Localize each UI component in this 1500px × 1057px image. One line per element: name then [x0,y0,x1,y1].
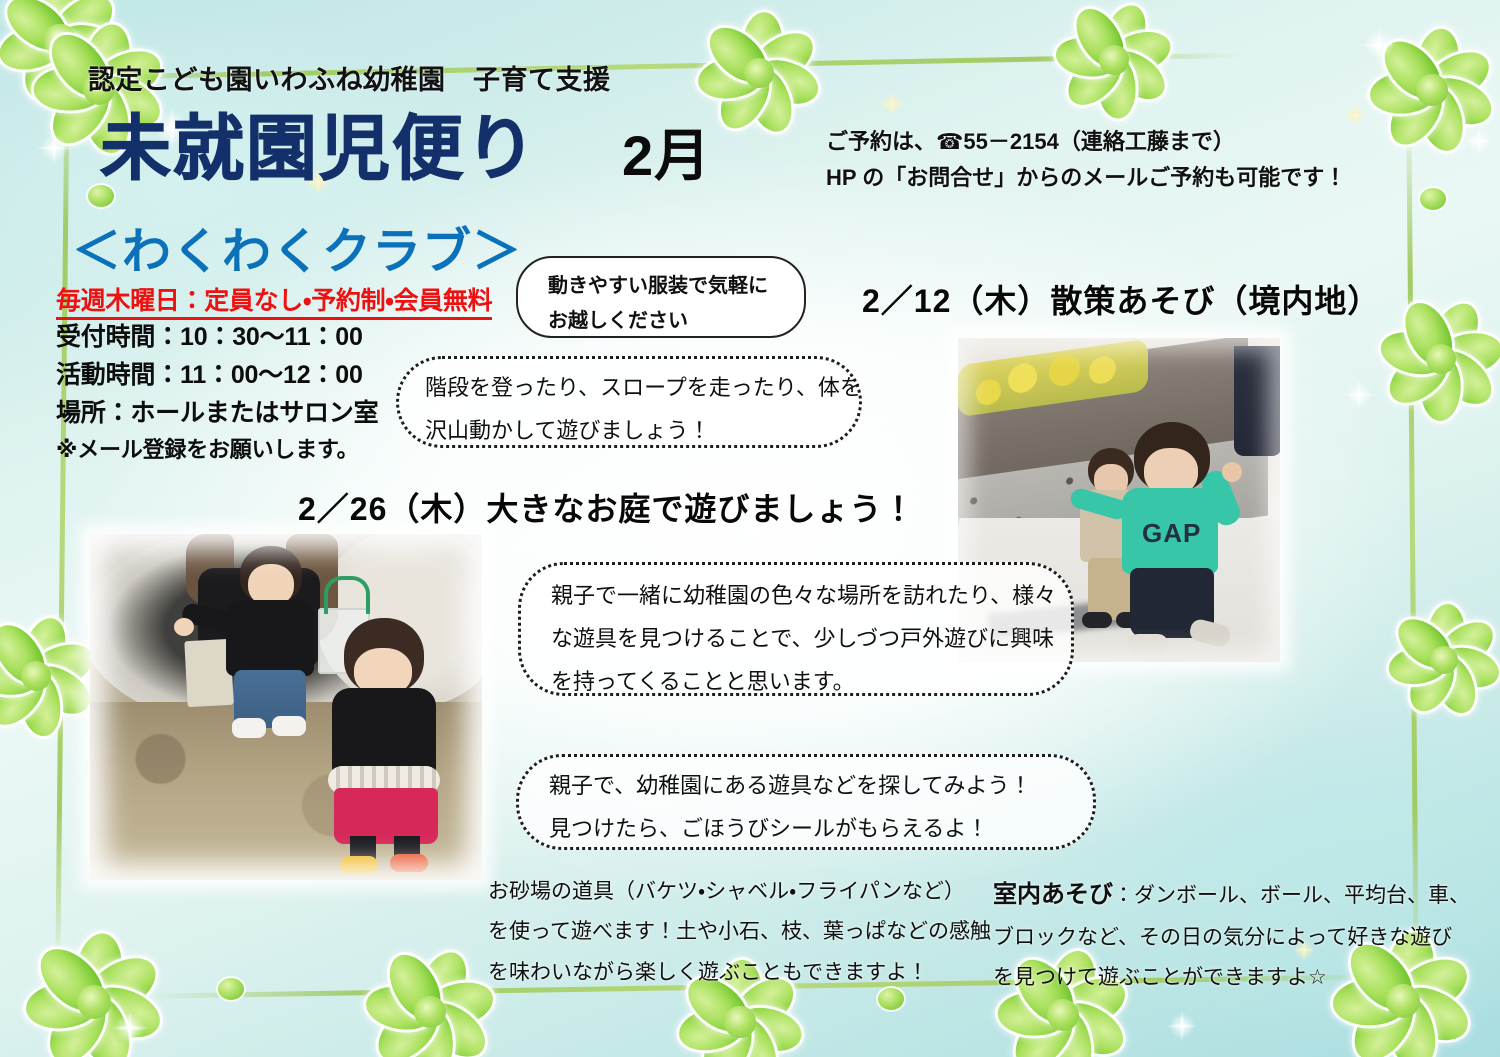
event-heading-226: 2／26（木）大きなお庭で遊びましょう！ [298,484,915,530]
month-label: 2月 [622,128,711,184]
bud-icon [1420,188,1446,210]
sparkle-icon [28,122,80,174]
speech-bubble-dress-text: 動きやすい服装で気軽に お越しください [548,269,768,339]
flower-icon [0,618,94,734]
speech-bubble-parentchild: 親子で一緒に幼稚園の色々な場所を訪れたり、様々 な遊具を見つけることで、少しづつ… [518,562,1074,696]
footnote-sandbox: お砂場の道具（バケツ・シャベル・フライパンなど） を使って遊べます！土や小石、枝… [488,872,991,993]
footnote-indoor-line-3: を見つけて遊ぶことができますよ☆ [993,966,1327,989]
speech-bubble-parentchild-text: 親子で一緒に幼稚園の色々な場所を訪れたり、様々 な遊具を見つけることで、少しづつ… [551,575,1056,704]
sparkle-icon [1158,1002,1206,1050]
page-title: 未就園児便り [100,114,538,185]
organization-line: 認定こども園いわふね幼稚園 子育て支援 [88,58,611,97]
speech-bubble-stairs: 階段を登ったり、スロープを走ったり、体を 沢山動かして遊びましょう！ [396,356,862,448]
footnote-sandbox-line-1: お砂場の道具（バケツ・シャベル・フライパンなど） [488,880,965,903]
sparkle-icon [872,84,912,124]
club-note: ※メール登録をお願いします。 [56,438,358,462]
contact-line-1: ご予約は、☎55－2154（連絡工藤まで） [826,129,1235,154]
footnote-sandbox-line-2: を使って遊べます！土や小石、枝、葉っぱなどの感触 [488,920,991,943]
footnote-indoor: 室内あそび：ダンボール、ボール、平均台、車、 ブロックなど、その日の気分によって… [993,872,1470,999]
flower-icon [368,950,492,1057]
flower-icon [700,14,818,132]
club-title: ＜わくわくクラブ＞ [72,228,522,277]
club-activity-time: 活動時間：11：00～12：00 [56,362,363,390]
flower-icon [1372,30,1492,150]
speech-bubble-sticker-text: 親子で、幼稚園にある遊具などを探してみよう！ 見つけたら、ごほうびシールがもらえ… [549,765,1031,851]
sparkle-icon [102,1000,158,1056]
vine-line-right [1406,120,1418,960]
speech-bubble-stairs-text: 階段を登ったり、スロープを走ったり、体を 沢山動かして遊びましょう！ [425,367,862,453]
sparkle-icon [1456,118,1500,164]
footnote-indoor-line-1: ：ダンボール、ボール、平均台、車、 [1113,884,1470,907]
vine-line-left [55,70,69,970]
club-reception-time: 受付時間：10：30～11：00 [56,324,363,352]
flower-icon [28,936,160,1057]
club-highlight: 毎週木曜日：定員なし・予約制・会員無料 [56,288,492,320]
speech-bubble-dress: 動きやすい服装で気軽に お越しください [516,256,806,338]
event-heading-212: 2／12（木）散策あそび（境内地） [862,276,1380,322]
sparkle-icon [1352,18,1406,72]
sparkle-icon [1336,372,1382,418]
flower-icon [1382,300,1500,418]
contact-line-2: HP の「お問合せ」からのメールご予約も可能です！ [826,165,1346,190]
footnote-sandbox-line-3: を味わいながら楽しく遊ぶこともできますよ！ [488,961,928,984]
contact-info: ご予約は、☎55－2154（連絡工藤まで） HP の「お問合せ」からのメールご予… [826,124,1346,195]
flyer-page: 認定こども園いわふね幼稚園 子育て支援 未就園児便り 2月 ご予約は、☎55－2… [0,0,1500,1057]
photo-garden-event [90,534,482,880]
club-place: 場所：ホールまたはサロン室 [56,400,378,428]
flower-icon [1390,606,1498,714]
footnote-indoor-line-2: ブロックなど、その日の気分によって好きな遊び [993,926,1452,949]
speech-bubble-sticker: 親子で、幼稚園にある遊具などを探してみよう！ 見つけたら、ごほうびシールがもらえ… [516,754,1096,850]
footnote-indoor-lead: 室内あそび [993,881,1113,908]
